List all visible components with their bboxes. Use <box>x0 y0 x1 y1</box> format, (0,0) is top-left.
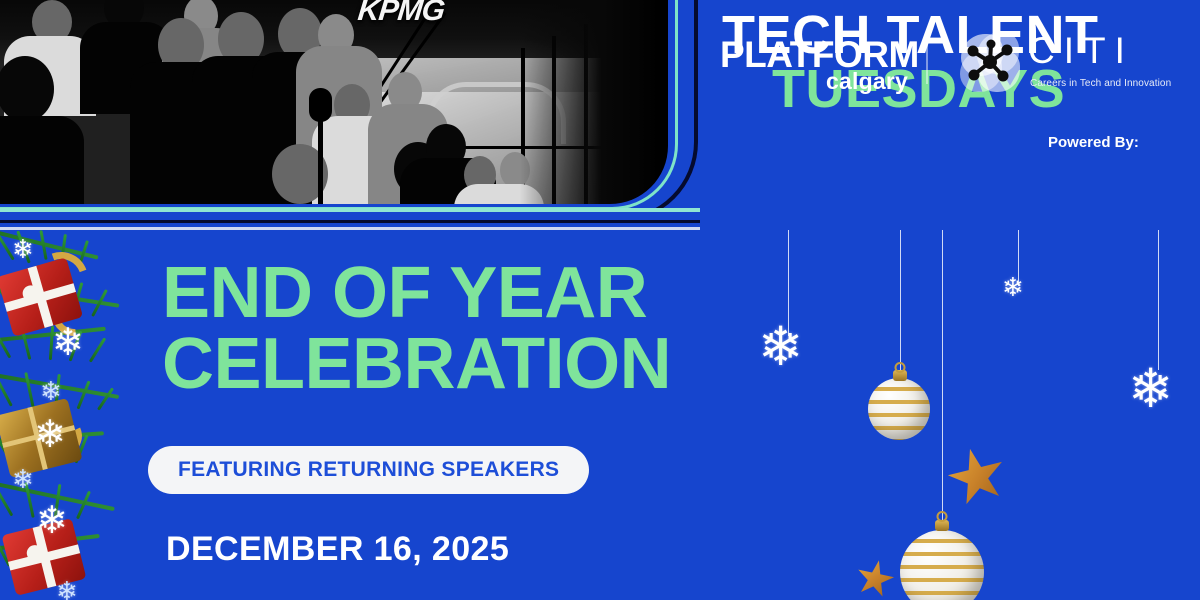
main-content: END OF YEAR CELEBRATION FEATURING RETURN… <box>0 232 1200 600</box>
powered-by-label: Powered By: <box>1048 134 1139 151</box>
audience-photo: KPMG <box>0 0 668 204</box>
event-date: DECEMBER 16, 2025 <box>166 530 509 569</box>
event-headline: END OF YEAR CELEBRATION <box>162 258 671 399</box>
audience-body <box>0 116 84 204</box>
citi-molecule-icon <box>958 30 1022 94</box>
logo-divider <box>926 34 928 84</box>
event-photo-panel: KPMG <box>0 0 668 204</box>
microphone-icon <box>318 114 323 204</box>
venue-shadow-right <box>520 0 668 204</box>
citi-wordmark: CITI <box>1028 32 1134 69</box>
separator-blue <box>0 212 700 220</box>
separator-light <box>0 227 700 230</box>
kpmg-signage: KPMG <box>356 0 446 28</box>
platform-calgary-logo: PLATFORM calgary <box>720 36 908 98</box>
header-region: TECH TALENT TUESDAYS Powered By: PLATFOR… <box>700 0 1200 232</box>
event-promo-banner: KPMG <box>0 0 1200 600</box>
featuring-speakers-badge: FEATURING RETURNING SPEAKERS <box>148 446 589 494</box>
platform-sublabel: calgary <box>826 70 908 93</box>
citi-logo: CITI Careers in Tech and Innovation <box>958 26 1168 100</box>
citi-tagline: Careers in Tech and Innovation <box>1030 78 1171 89</box>
